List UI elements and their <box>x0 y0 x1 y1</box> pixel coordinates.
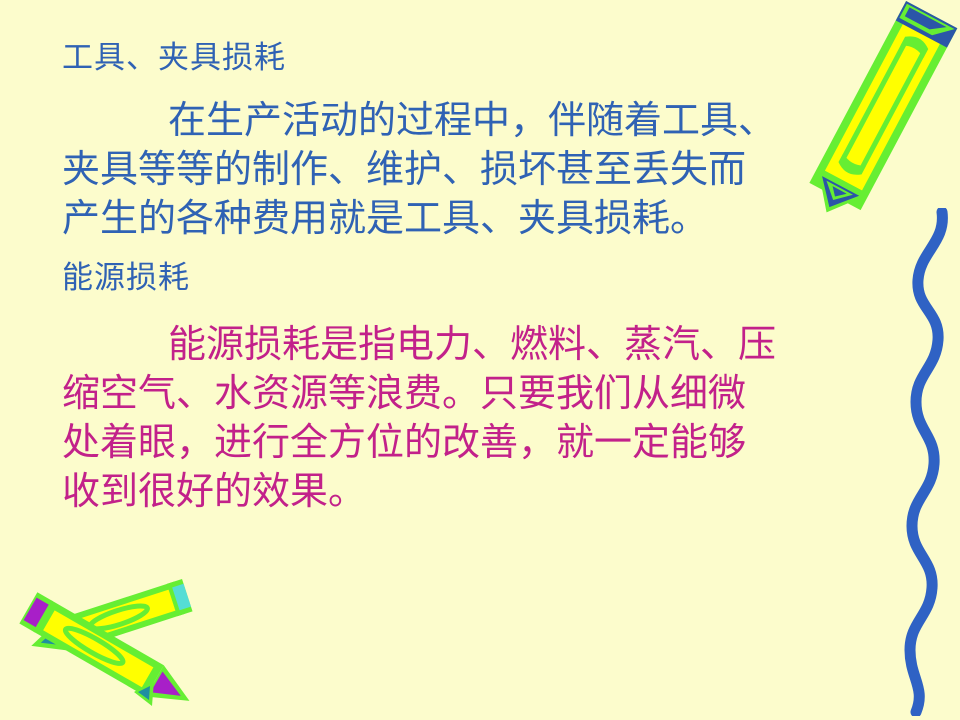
paragraph-line: 能源损耗是指电力、燃料、蒸汽、压 <box>62 320 862 369</box>
section-heading-tool-fixture-loss: 工具、夹具损耗 <box>62 38 286 78</box>
paragraph-line: 产生的各种费用就是工具、夹具损耗。 <box>62 194 862 243</box>
paragraph-line: 处着眼，进行全方位的改善，就一定能够 <box>62 418 862 467</box>
paragraph-tool-fixture-loss: 在生产活动的过程中，伴随着工具、 夹具等等的制作、维护、损坏甚至丢失而 产生的各… <box>62 96 862 243</box>
paragraph-line: 收到很好的效果。 <box>62 467 862 516</box>
section-heading-energy-loss: 能源损耗 <box>62 258 190 298</box>
slide-content: 工具、夹具损耗 在生产活动的过程中，伴随着工具、 夹具等等的制作、维护、损坏甚至… <box>0 0 960 720</box>
paragraph-energy-loss: 能源损耗是指电力、燃料、蒸汽、压 缩空气、水资源等浪费。只要我们从细微 处着眼，… <box>62 320 862 516</box>
slide-canvas: 工具、夹具损耗 在生产活动的过程中，伴随着工具、 夹具等等的制作、维护、损坏甚至… <box>0 0 960 720</box>
paragraph-line: 夹具等等的制作、维护、损坏甚至丢失而 <box>62 145 862 194</box>
paragraph-line: 在生产活动的过程中，伴随着工具、 <box>62 96 862 145</box>
paragraph-line: 缩空气、水资源等浪费。只要我们从细微 <box>62 369 862 418</box>
